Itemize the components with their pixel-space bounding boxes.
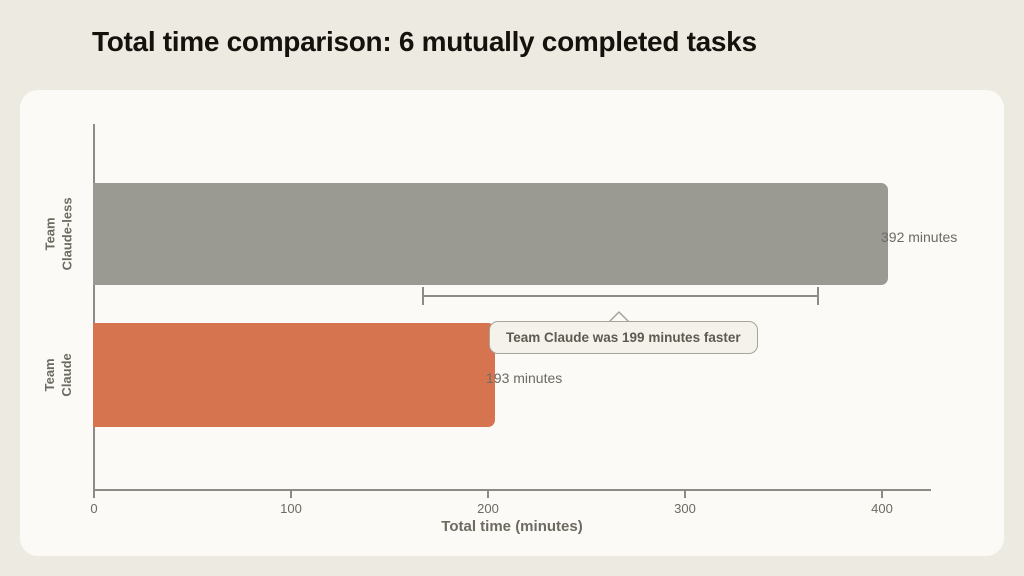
x-tick-400: [881, 491, 883, 498]
chart-card: 0 100 200 300 400 Total time (minutes) T…: [20, 90, 1004, 556]
x-axis-title: Total time (minutes): [20, 518, 1004, 535]
difference-bracket-line: [422, 295, 819, 297]
difference-callout-text: Team Claude was 199 minutes faster: [506, 330, 741, 345]
bar-team-claude[interactable]: [93, 323, 495, 427]
y-axis-label-line-2: Claude-less: [59, 198, 76, 271]
difference-bracket-cap-right: [817, 287, 819, 305]
y-axis-label-line-2: Claude: [59, 353, 76, 396]
chart-screenshot: Total time comparison: 6 mutually comple…: [0, 0, 1024, 576]
page-title: Total time comparison: 6 mutually comple…: [92, 26, 757, 58]
x-tick-label-200: 200: [477, 501, 499, 516]
x-tick-300: [684, 491, 686, 498]
plot-area: 0 100 200 300 400 Total time (minutes) T…: [20, 90, 1004, 556]
y-axis-label-line-1: Team: [42, 353, 59, 396]
y-axis-label-claude: Team Claude: [36, 323, 82, 427]
x-tick-200: [487, 491, 489, 498]
bar-value-team-claude: 193 minutes: [486, 370, 562, 386]
x-tick-label-400: 400: [871, 501, 893, 516]
x-tick-label-0: 0: [90, 501, 97, 516]
bar-team-claude-less[interactable]: [93, 183, 888, 285]
x-tick-label-300: 300: [674, 501, 696, 516]
y-axis-label-claude-less: Team Claude-less: [36, 183, 82, 285]
y-axis-label-line-1: Team: [42, 198, 59, 271]
difference-bracket-cap-left: [422, 287, 424, 305]
x-axis-line: [93, 489, 931, 491]
difference-callout: Team Claude was 199 minutes faster: [489, 321, 758, 354]
bar-value-team-claude-less: 392 minutes: [881, 229, 957, 245]
x-tick-0: [93, 491, 95, 498]
x-tick-label-100: 100: [280, 501, 302, 516]
y-axis-line: [93, 124, 95, 490]
x-tick-100: [290, 491, 292, 498]
